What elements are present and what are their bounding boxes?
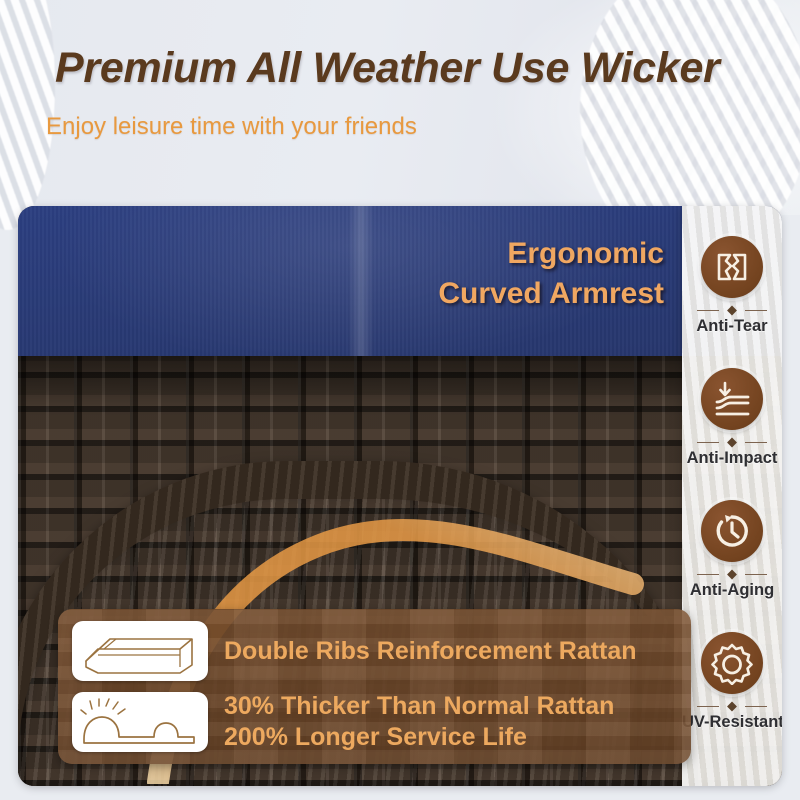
callout-line-2: Curved Armrest: [438, 274, 664, 314]
feature-label: Anti-Impact: [682, 449, 782, 468]
info-text: 30% Thicker Than Normal Rattan 200% Long…: [224, 691, 614, 752]
page-subheadline: Enjoy leisure time with your friends: [46, 113, 746, 141]
feature-label: Anti-Tear: [682, 317, 782, 336]
feature-divider: [697, 438, 767, 447]
feature-item-anti-tear[interactable]: Anti-Tear: [682, 206, 782, 336]
clock-refresh-icon: [701, 500, 763, 562]
impact-arrow-layers-icon: [701, 368, 763, 430]
feature-strip: Anti-Tear Anti-Impact: [682, 206, 782, 786]
rattan-cross-section-icon: [72, 692, 208, 752]
feature-divider: [697, 306, 767, 315]
feature-label: UV-Resistant: [682, 713, 782, 732]
feature-divider: [697, 570, 767, 579]
info-row: 30% Thicker Than Normal Rattan 200% Long…: [72, 691, 677, 752]
product-feature-poster: Premium All Weather Use Wicker Enjoy lei…: [0, 0, 800, 800]
feature-item-uv-resistant[interactable]: UV-Resistant: [682, 600, 782, 732]
feature-item-anti-impact[interactable]: Anti-Impact: [682, 336, 782, 468]
feature-item-anti-aging[interactable]: Anti-Aging: [682, 468, 782, 600]
sun-burst-icon: [701, 632, 763, 694]
rattan-info-panel: Double Ribs Reinforcement Rattan 30% Thi…: [58, 609, 691, 764]
feature-divider: [697, 702, 767, 711]
rattan-strip-profile-icon: [72, 621, 208, 681]
callout-line-1: Ergonomic: [438, 234, 664, 274]
info-text: Double Ribs Reinforcement Rattan: [224, 636, 637, 667]
feature-label: Anti-Aging: [682, 581, 782, 600]
ergonomic-callout: Ergonomic Curved Armrest: [438, 234, 664, 314]
product-photo-panel: Ergonomic Curved Armrest Anti-Tear: [18, 206, 782, 786]
torn-sheet-icon: [701, 236, 763, 298]
weave-top-shadow: [18, 356, 782, 416]
header-background: [0, 0, 800, 215]
info-row: Double Ribs Reinforcement Rattan: [72, 621, 677, 681]
page-headline: Premium All Weather Use Wicker: [55, 44, 755, 93]
